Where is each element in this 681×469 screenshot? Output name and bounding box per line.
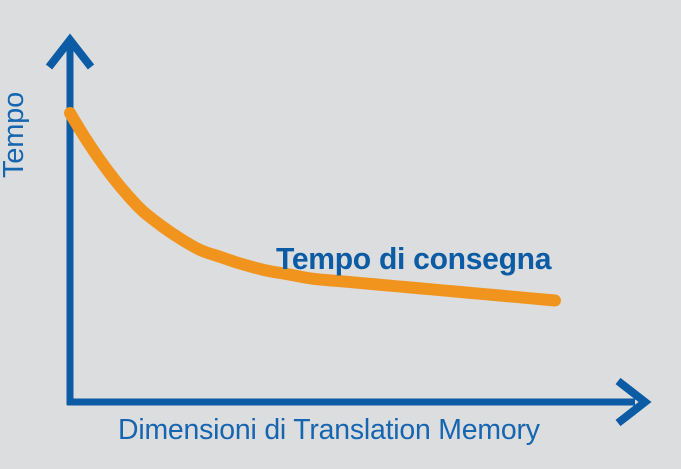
series-annotation-label: Tempo di consegna — [276, 243, 551, 274]
chart-figure: Tempo di consegna Dimensioni di Translat… — [0, 0, 681, 469]
x-axis-label: Dimensioni di Translation Memory — [118, 416, 540, 445]
y-axis-label: Tempo — [0, 85, 29, 185]
chart-canvas — [0, 0, 681, 469]
